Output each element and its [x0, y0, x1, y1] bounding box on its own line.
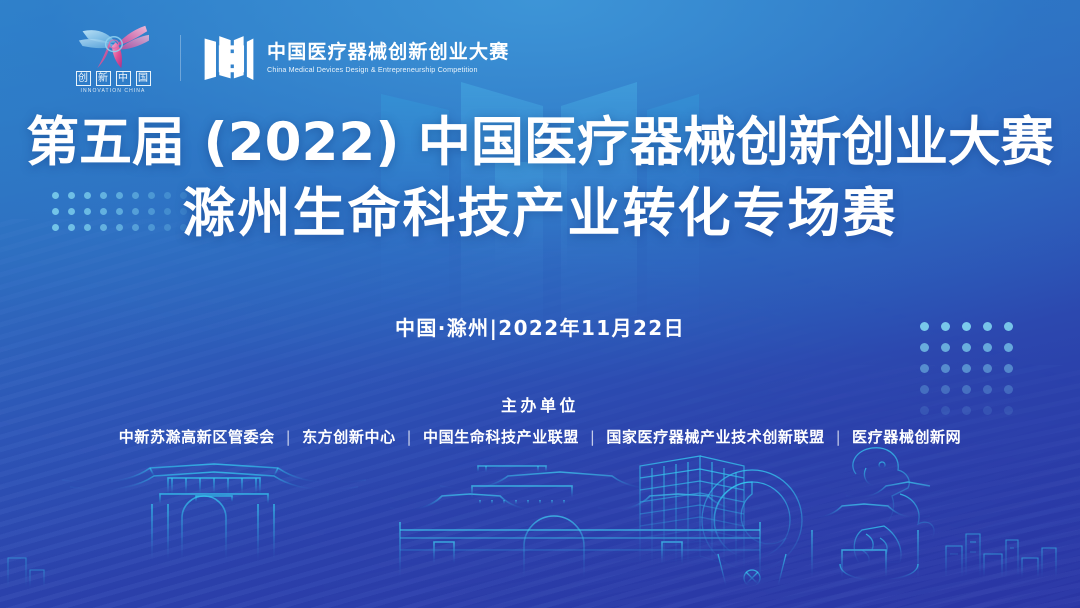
organizer-separator: | — [585, 428, 601, 446]
organizer-item: 中国生命科技产业联盟 — [423, 428, 579, 446]
city-skyline-illustration — [0, 438, 1080, 608]
competition-logo: 中国医疗器械创新创业大赛 China Medical Devices Desig… — [203, 32, 509, 84]
organizers-heading: 主办单位 — [0, 392, 1080, 416]
organizer-item: 医疗器械创新网 — [852, 428, 961, 446]
chinese-pavilion-icon — [800, 482, 930, 578]
merlion-statue-icon — [834, 448, 934, 586]
competition-logo-text: 中国医疗器械创新创业大赛 China Medical Devices Desig… — [267, 42, 509, 75]
header-divider — [180, 35, 181, 81]
organizer-item: 中新苏滁高新区管委会 — [119, 428, 275, 446]
seal-char-3: 中 — [116, 71, 131, 86]
competition-name-en: China Medical Devices Design & Entrepren… — [267, 65, 509, 74]
modern-office-tower-icon — [612, 456, 772, 578]
event-location-date: 中国·滁州|2022年11月22日 — [0, 312, 1080, 341]
page-subtitle: 滁州生命科技产业转化专场赛 — [0, 183, 1080, 244]
open-door-logo-mark-icon — [203, 32, 255, 84]
organizer-item: 国家医疗器械产业技术创新联盟 — [606, 428, 824, 446]
header-logos: 创 新 中 国 INNOVATION CHINA 中国医疗器械创新创业大赛 Ch… — [62, 22, 509, 94]
bird-logo-seal-characters: 创 新 中 国 — [76, 71, 151, 86]
organizer-separator: | — [281, 428, 297, 446]
organizer-separator: | — [831, 428, 847, 446]
bird-logo-english: INNOVATION CHINA — [81, 88, 146, 94]
poster-canvas: 创 新 中 国 INNOVATION CHINA 中国医疗器械创新创业大赛 Ch… — [0, 0, 1080, 608]
city-gate-icon — [390, 466, 764, 578]
seal-char-2: 新 — [96, 71, 111, 86]
seal-char-4: 国 — [136, 71, 151, 86]
organizers-list: 中新苏滁高新区管委会 | 东方创新中心 | 中国生命科技产业联盟 | 国家医疗器… — [0, 426, 1080, 447]
title-block: 第五届 (2022) 中国医疗器械创新创业大赛 滁州生命科技产业转化专场赛 — [0, 112, 1080, 245]
bird-icon — [70, 22, 156, 70]
seal-char-1: 创 — [76, 71, 91, 86]
ring-sculpture-monument-icon — [702, 470, 802, 586]
page-title: 第五届 (2022) 中国医疗器械创新创业大赛 — [0, 112, 1080, 173]
left-city-buildings-icon — [0, 558, 60, 588]
innovation-china-bird-logo: 创 新 中 国 INNOVATION CHINA — [62, 22, 164, 94]
organizer-item: 东方创新中心 — [302, 428, 396, 446]
competition-name-cn: 中国医疗器械创新创业大赛 — [267, 42, 509, 64]
background-city-buildings-icon — [938, 534, 1070, 578]
pailou-gate-icon — [62, 464, 366, 560]
organizer-separator: | — [402, 428, 418, 446]
